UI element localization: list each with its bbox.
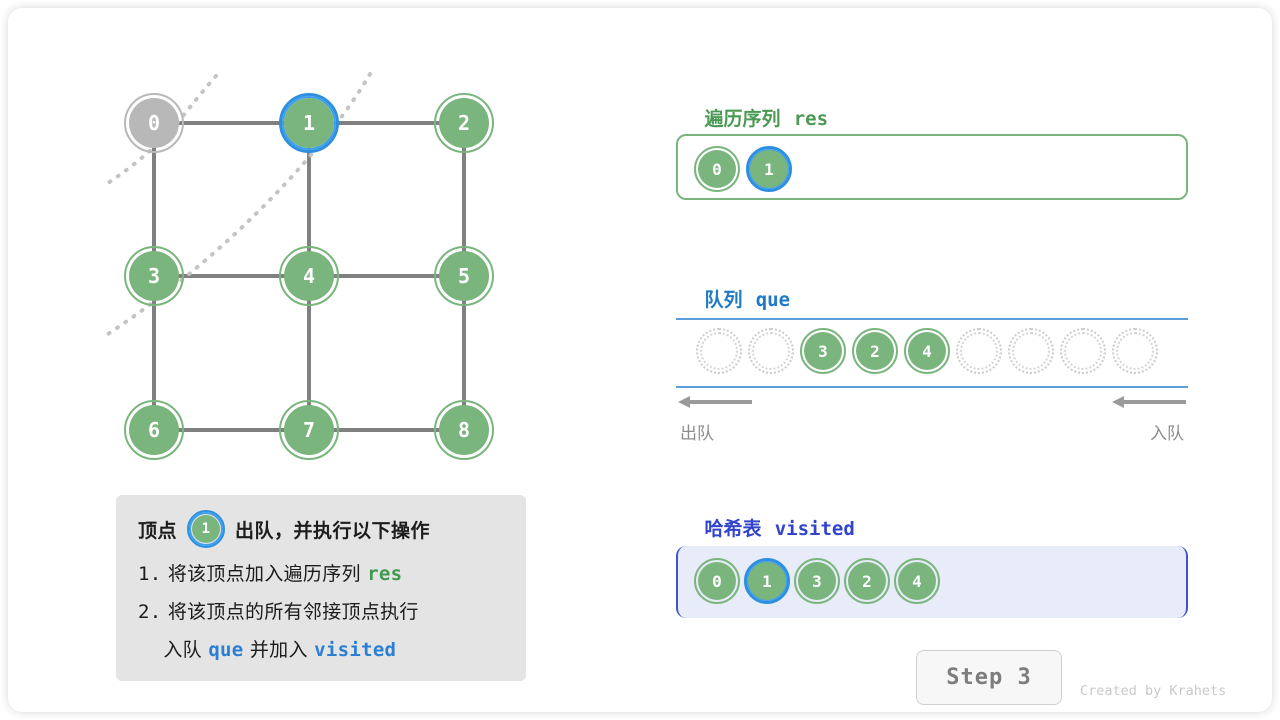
res-items: 01: [694, 146, 792, 192]
visited-container: 01324: [676, 546, 1188, 618]
queue-slot-6[interactable]: [1008, 328, 1054, 374]
res-container: 01: [676, 134, 1188, 200]
step-2-text: 将该顶点的所有邻接顶点执行: [168, 601, 419, 623]
ball-label: 2: [856, 332, 894, 370]
res-item-1[interactable]: 1: [746, 146, 792, 192]
step-1-number: 1.: [138, 563, 161, 585]
graph-node-0[interactable]: 0: [124, 93, 184, 153]
step-2-l2-code-visited: visited: [314, 639, 396, 661]
graph-node-7[interactable]: 7: [279, 400, 339, 460]
ball-label: [752, 332, 790, 370]
graph-node-2[interactable]: 2: [434, 93, 494, 153]
caption-head-prefix: 顶点: [138, 516, 177, 543]
queue-bottom-rule: [676, 386, 1188, 388]
res-title-cn: 遍历序列: [704, 108, 780, 130]
caption-node-chip: 1: [187, 510, 225, 548]
visited-item-0[interactable]: 0: [694, 558, 740, 604]
ball-label: 0: [698, 150, 736, 188]
visited-item-1[interactable]: 1: [744, 558, 790, 604]
ball-label: [700, 332, 738, 370]
ball-label: 0: [698, 562, 736, 600]
visited-item-2[interactable]: 3: [794, 558, 840, 604]
graph-node-3[interactable]: 3: [124, 246, 184, 306]
queue-title-code: que: [756, 289, 790, 311]
queue-slot-5[interactable]: [956, 328, 1002, 374]
queue-slot-1[interactable]: [748, 328, 794, 374]
ball-label: [1012, 332, 1050, 370]
enqueue-arrow-icon: [1110, 393, 1188, 411]
graph-node-5[interactable]: 5: [434, 246, 494, 306]
ball-label: 3: [804, 332, 842, 370]
queue-panel-title: 队列 que: [678, 263, 790, 334]
queue-slot-0[interactable]: [696, 328, 742, 374]
dequeue-label: 出队: [680, 419, 714, 444]
node-label: 7: [284, 405, 334, 455]
visited-item-3[interactable]: 2: [844, 558, 890, 604]
ball-label: 3: [798, 562, 836, 600]
graph-node-4[interactable]: 4: [279, 246, 339, 306]
res-item-0[interactable]: 0: [694, 146, 740, 192]
graph-node-6[interactable]: 6: [124, 400, 184, 460]
queue-slot-3[interactable]: 2: [852, 328, 898, 374]
graph-node-8[interactable]: 8: [434, 400, 494, 460]
visited-items: 01324: [694, 558, 940, 604]
step-2-l2-code-que: que: [208, 639, 243, 661]
node-label: 5: [439, 251, 489, 301]
queue-slot-2[interactable]: 3: [800, 328, 846, 374]
ball-label: 4: [898, 562, 936, 600]
queue-slot-7[interactable]: [1060, 328, 1106, 374]
step-2-l2-middle: 并加入: [250, 639, 308, 661]
node-label: 2: [439, 98, 489, 148]
credit-text: Created by Krahets: [1080, 683, 1226, 699]
queue-slot-8[interactable]: [1112, 328, 1158, 374]
queue-slots: 324: [696, 328, 1158, 374]
ball-label: 1: [748, 562, 786, 600]
enqueue-label: 入队: [1150, 419, 1184, 444]
step-2-number: 2.: [138, 601, 161, 623]
chip-label: 1: [192, 515, 220, 543]
node-label: 3: [129, 251, 179, 301]
caption-box: 顶点 1 出队，并执行以下操作 1. 将该顶点加入遍历序列 res 2. 将该顶…: [116, 495, 526, 681]
ball-label: [960, 332, 998, 370]
queue-slot-4[interactable]: 4: [904, 328, 950, 374]
visited-item-4[interactable]: 4: [894, 558, 940, 604]
node-label: 1: [284, 98, 334, 148]
res-title-code: res: [794, 108, 828, 130]
caption-headline: 顶点 1 出队，并执行以下操作: [138, 509, 508, 549]
figure-card: 012345678 顶点 1 出队，并执行以下操作 1. 将该顶点加入遍历序列 …: [8, 8, 1272, 712]
dequeue-arrow-icon: [676, 393, 754, 411]
ball-label: [1064, 332, 1102, 370]
node-label: 6: [129, 405, 179, 455]
queue-top-rule: [676, 318, 1188, 320]
graph-diagram: 012345678: [8, 8, 628, 488]
ball-label: 4: [908, 332, 946, 370]
ball-label: [1116, 332, 1154, 370]
ball-label: 2: [848, 562, 886, 600]
node-label: 8: [439, 405, 489, 455]
graph-node-1[interactable]: 1: [279, 93, 339, 153]
caption-step-1: 1. 将该顶点加入遍历序列 res: [138, 555, 508, 593]
caption-step-2: 2. 将该顶点的所有邻接顶点执行: [138, 593, 508, 631]
step-2-l2-before: 入队: [163, 639, 202, 661]
step-badge: Step 3: [916, 650, 1062, 705]
ball-label: 1: [750, 150, 788, 188]
visited-title-cn: 哈希表: [704, 518, 761, 540]
visited-title-code: visited: [775, 518, 855, 540]
step-1-text: 将该顶点加入遍历序列: [168, 563, 361, 585]
node-label: 4: [284, 251, 334, 301]
queue-title-cn: 队列: [704, 289, 742, 311]
step-1-code: res: [367, 563, 402, 585]
caption-step-2-line2: 入队 que 并加入 visited: [138, 631, 508, 669]
caption-steps: 1. 将该顶点加入遍历序列 res 2. 将该顶点的所有邻接顶点执行 入队 qu…: [138, 555, 508, 669]
node-label: 0: [129, 98, 179, 148]
queue-legend: 出队 入队: [676, 393, 1188, 453]
caption-head-suffix: 出队，并执行以下操作: [235, 516, 430, 543]
